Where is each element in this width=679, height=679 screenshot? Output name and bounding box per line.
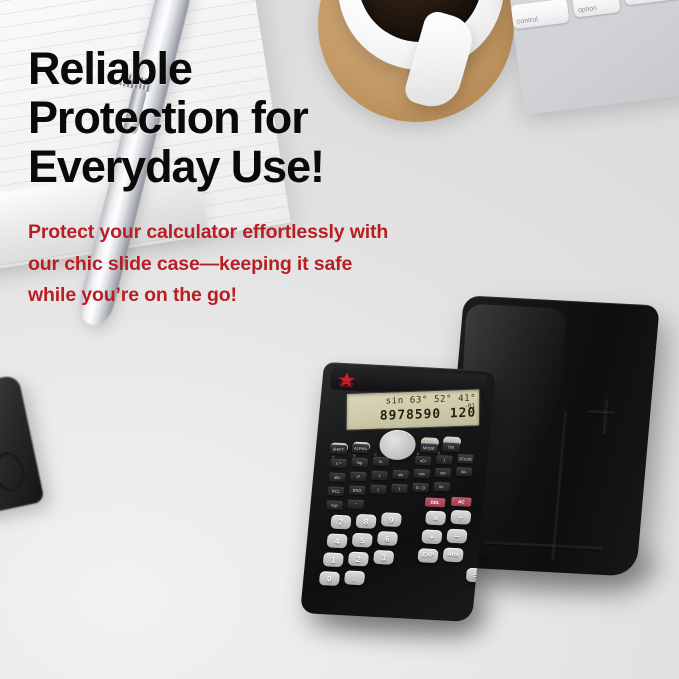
banner-copy: ReliableProtection forEveryday Use! Prot… [28, 44, 508, 312]
fkey-label: hyp [326, 501, 343, 509]
calc-key-m[interactable]: M+ [456, 467, 473, 477]
calc-key-tan[interactable]: tan [435, 468, 452, 478]
calc-key-log[interactable]: log [351, 458, 368, 468]
calc-key-cos[interactable]: cos [413, 469, 430, 479]
fkey-label: ln [373, 458, 390, 466]
fkey-label: ENG [349, 486, 366, 494]
subhead-line-2: our chic slide case—keeping it safe [28, 249, 508, 281]
calc-key-divide[interactable]: ÷ [450, 510, 471, 525]
replay-dpad[interactable] [378, 429, 417, 461]
calc-key-multiply[interactable]: × [425, 511, 446, 526]
fkey-label: MODE [420, 444, 438, 452]
fkey-label: S⇔D [412, 484, 429, 492]
calc-key-mode[interactable]: MODE [420, 443, 438, 453]
fkey-label: RCL [328, 487, 345, 495]
calc-key-sin[interactable]: sin [392, 470, 409, 480]
calc-key-4[interactable]: 4 [326, 533, 347, 548]
fkey-label: abc [329, 473, 346, 481]
calc-key-[interactable]: ( [370, 485, 387, 495]
calc-key-plus[interactable]: + [421, 529, 442, 544]
aluminium-keyboard: caps lockASshiftZXcontroloptioncommand [502, 0, 679, 115]
fkey-label: M+ [456, 468, 473, 476]
calc-key-1[interactable]: 1 [323, 552, 344, 567]
calc-key-9[interactable]: 9 [381, 512, 402, 527]
fkey-label: AC [451, 498, 472, 506]
calc-key-x[interactable]: x⁻¹ [330, 458, 347, 468]
calculator-lcd-display: sin 63° 52° 41° 8978590 120 -01 [346, 388, 481, 431]
calc-key-[interactable]: ° [347, 499, 364, 509]
page-subtitle: Protect your calculator effortlessly wit… [28, 217, 508, 312]
fkey-label: sin [392, 471, 409, 479]
calc-key-[interactable]: √ [371, 471, 388, 481]
calc-key-abc[interactable]: abc [329, 472, 346, 482]
fkey-label: √ [371, 472, 388, 480]
fkey-label: x⁻¹ [330, 459, 347, 467]
red-star-logo [336, 371, 358, 389]
calc-key-x[interactable]: x³ [350, 472, 367, 482]
fkey-label: SHIFT [330, 445, 348, 453]
calc-key-[interactable]: ) [391, 484, 408, 494]
dark-desk-object [0, 374, 45, 516]
subhead-line-3: while you’re on the go! [28, 280, 508, 312]
product-banner-scene: caps lockASshiftZXcontroloptioncommand R… [0, 0, 679, 679]
fkey-label: cos [414, 470, 431, 478]
fkey-label: ) [391, 485, 408, 493]
calc-key-7[interactable]: 7 [330, 515, 351, 530]
calc-key-alpha[interactable]: ALPHA [352, 444, 370, 454]
calc-key-m[interactable]: M- [433, 482, 450, 492]
calc-key-6[interactable]: 6 [377, 531, 398, 546]
calc-key-minus[interactable]: − [446, 529, 467, 544]
calc-key-ln[interactable]: ln [372, 457, 389, 467]
fkey-label: ( [370, 486, 387, 494]
calc-key-2[interactable]: 2 [348, 552, 369, 567]
fkey-label: DEL [425, 498, 446, 506]
calc-key-shift[interactable]: SHIFT [329, 444, 347, 454]
fkey-label: x³ [350, 472, 367, 480]
headline-line-3: Everyday Use! [28, 142, 508, 191]
page-title: ReliableProtection forEveryday Use! [28, 44, 508, 191]
lcd-line-2: 8978590 120 [352, 405, 477, 424]
calc-key-eng[interactable]: ENG [349, 485, 366, 495]
calc-key-exp[interactable]: EXP [417, 548, 438, 563]
fkey-label: ON [442, 443, 460, 451]
calc-key-sd[interactable]: S⇔D [412, 483, 429, 493]
calc-key-[interactable]: ∫ [436, 455, 453, 465]
calc-key-0[interactable]: 0 [319, 571, 340, 586]
calc-key-solve[interactable]: SOLVE [457, 454, 474, 464]
calc-key-ac[interactable]: AC [451, 497, 472, 507]
headline-line-2: Protection for [28, 93, 508, 142]
fkey-label: nCr [415, 457, 432, 465]
keyboard-key-option[interactable]: option [572, 0, 621, 18]
keyboard-key-command[interactable]: command [623, 0, 679, 5]
calc-key-ncr[interactable]: nCr [415, 456, 432, 466]
calc-key-8[interactable]: 8 [355, 514, 376, 529]
calc-key-ans[interactable]: Ans [443, 547, 464, 562]
calc-key-del[interactable]: DEL [425, 497, 446, 507]
headline-line-1: Reliable [28, 44, 508, 93]
scientific-calculator: sin 63° 52° 41° 8978590 120 -01 SHIFTALP… [300, 362, 496, 622]
calc-key-rcl[interactable]: RCL [327, 486, 344, 496]
fkey-label: ALPHA [352, 445, 370, 453]
fkey-label: log [351, 459, 368, 467]
subhead-line-1: Protect your calculator effortlessly wit… [28, 217, 508, 249]
calc-key-5[interactable]: 5 [352, 533, 373, 548]
calc-key-decimal[interactable]: . [344, 570, 365, 585]
fkey-label: M- [433, 483, 450, 491]
calc-key-on[interactable]: ON [442, 442, 460, 452]
fkey-label: ∫ [436, 456, 453, 464]
calc-key-3[interactable]: 3 [373, 550, 394, 565]
fkey-label: tan [435, 469, 452, 477]
lcd-exponent: -01 [464, 403, 475, 410]
keyboard-key-control[interactable]: control [511, 0, 570, 29]
fkey-label: SOLVE [457, 455, 474, 463]
calc-key-hyp[interactable]: hyp [326, 500, 343, 510]
fkey-label: ° [347, 500, 364, 508]
